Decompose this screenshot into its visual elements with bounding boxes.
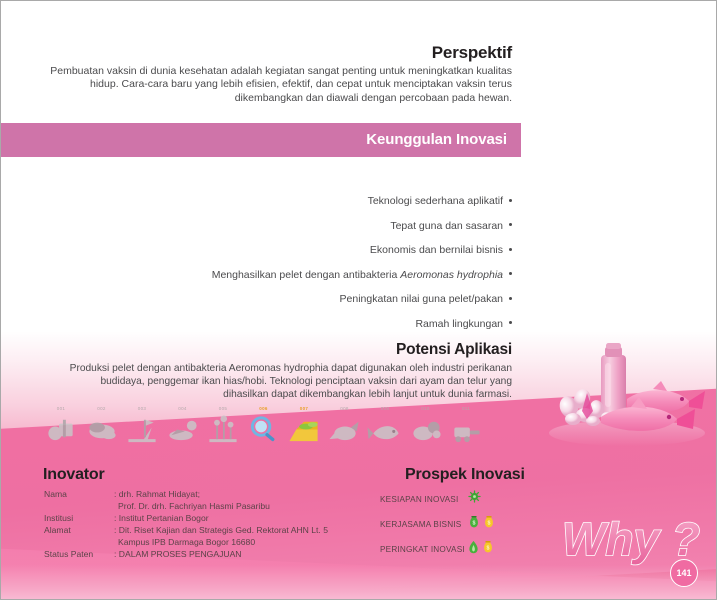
page-canvas: Perspektif Pembuatan vaksin di dunia kes… xyxy=(1,1,716,599)
inovator-row-value-line2: Prof. Dr. drh. Fachriyan Hasmi Pasaribu xyxy=(118,500,374,512)
lab-icon xyxy=(82,412,122,445)
inovator-row-value: : Dit. Riset Kajian dan Strategis Ged. R… xyxy=(114,524,374,536)
energy-icon xyxy=(406,412,446,445)
plantation-icon xyxy=(203,412,243,445)
agriculture-icon xyxy=(122,412,162,445)
sector-icon-001[interactable]: 001 xyxy=(41,405,81,447)
bullet-text: Ramah lingkungan xyxy=(415,318,503,330)
product-photo-bottle-pellets-fish xyxy=(535,327,710,452)
inovator-row: Nama: drh. Rahmat Hidayat; xyxy=(44,488,374,500)
moneybag-yellow-icon: $ xyxy=(482,540,494,554)
bullet-text: Tepat guna dan sasaran xyxy=(390,220,503,232)
sector-icon-number: 005 xyxy=(203,405,243,412)
prospek-rating-label: PERINGKAT INOVASI xyxy=(380,545,465,554)
keunggulan-bullet-item: Menghasilkan pelet dengan antibakteria A… xyxy=(41,268,512,282)
bullet-text: Menghasilkan pelet dengan antibakteria xyxy=(212,269,401,281)
prospek-rating-list: KESIAPAN INOVASIKERJASAMA BISNIS$$PERING… xyxy=(380,492,555,567)
moneybag-yellow-icon: $ xyxy=(483,515,495,529)
livestock-icon xyxy=(163,412,203,445)
machinery-icon xyxy=(446,412,486,445)
marine-icon xyxy=(365,412,405,445)
sector-icon-number: 009 xyxy=(365,405,405,412)
inovator-row-value: : Institut Pertanian Bogor xyxy=(114,512,374,524)
bullet-species-name: Aeromonas hydrophia xyxy=(400,269,503,281)
sector-icon-005[interactable]: 005 xyxy=(203,405,243,447)
sector-icon-004[interactable]: 004 xyxy=(163,405,203,447)
sector-icon-008[interactable]: 008 xyxy=(325,405,365,447)
keunggulan-bullet-item: Peningkatan nilai guna pelet/pakan xyxy=(41,292,512,306)
prospek-rating-icons xyxy=(468,490,484,505)
potensi-heading: Potensi Aplikasi xyxy=(396,341,512,359)
research-icon xyxy=(41,412,81,445)
sector-icon-003[interactable]: 003 xyxy=(122,405,162,447)
svg-text:$: $ xyxy=(486,546,489,552)
bottle-icon xyxy=(601,343,626,417)
sector-icon-number: 004 xyxy=(163,405,203,412)
sector-icon-number: 001 xyxy=(41,405,81,412)
prospek-rating-icons: $ xyxy=(468,540,497,556)
bullet-text: Ekonomis dan bernilai bisnis xyxy=(370,244,503,256)
inovator-row: Status Paten: DALAM PROSES PENGAJUAN xyxy=(44,548,374,560)
sector-icon-number: 011 xyxy=(446,405,486,412)
inovator-row-continued: Prof. Dr. drh. Fachriyan Hasmi Pasaribu xyxy=(44,500,374,512)
inovator-row-label: Alamat xyxy=(44,524,114,536)
sector-icon-number: 007 xyxy=(284,405,324,412)
bullet-dot-icon xyxy=(509,248,512,251)
perspektif-heading: Perspektif xyxy=(432,43,512,63)
inovator-row-value: : DALAM PROSES PENGAJUAN xyxy=(114,548,374,560)
perspektif-body-text: Pembuatan vaksin di dunia kesehatan adal… xyxy=(43,65,512,105)
keunggulan-bullet-item: Ekonomis dan bernilai bisnis xyxy=(41,243,512,257)
bullet-dot-icon xyxy=(509,297,512,300)
inovator-details-table: Nama: drh. Rahmat Hidayat;Prof. Dr. drh.… xyxy=(44,488,374,561)
bullet-dot-icon xyxy=(509,321,512,324)
sector-icon-number: 010 xyxy=(406,405,446,412)
sector-icon-strip: 001002003004005006007008009010011 xyxy=(41,405,487,447)
keunggulan-bullet-list: Teknologi sederhana aplikatifTepat guna … xyxy=(41,194,512,341)
flame-green-icon xyxy=(468,540,479,554)
prospek-rating-icons: $$ xyxy=(468,515,498,531)
svg-text:$: $ xyxy=(472,521,475,527)
sector-icon-002[interactable]: 002 xyxy=(82,405,122,447)
sector-icon-009[interactable]: 009 xyxy=(365,405,405,447)
moneybag-green-icon: $ xyxy=(468,515,480,529)
inovator-row-value-line2: Kampus IPB Darmaga Bogor 16680 xyxy=(118,536,374,548)
sector-icon-011[interactable]: 011 xyxy=(446,405,486,447)
bullet-dot-icon xyxy=(509,199,512,202)
prospek-rating-row: PERINGKAT INOVASI$ xyxy=(380,542,555,567)
prospek-heading: Prospek Inovasi xyxy=(405,466,525,484)
sector-icon-number: 003 xyxy=(122,405,162,412)
prospek-rating-row: KERJASAMA BISNIS$$ xyxy=(380,517,555,542)
inovator-row-continued: Kampus IPB Darmaga Bogor 16680 xyxy=(44,536,374,548)
bullet-text: Teknologi sederhana aplikatif xyxy=(368,195,503,207)
bullet-dot-icon xyxy=(509,223,512,226)
keunggulan-heading: Keunggulan Inovasi xyxy=(366,131,507,148)
page-number-badge: 141 xyxy=(670,559,698,587)
inovator-row: Alamat: Dit. Riset Kajian dan Strategis … xyxy=(44,524,374,536)
sector-icon-006[interactable]: 006 xyxy=(244,405,284,447)
bullet-dot-icon xyxy=(509,272,512,275)
publication-page: Perspektif Pembuatan vaksin di dunia kes… xyxy=(0,0,717,600)
bullet-text: Peningkatan nilai guna pelet/pakan xyxy=(340,293,503,305)
keunggulan-bullet-item: Teknologi sederhana aplikatif xyxy=(41,194,512,208)
prospek-rating-label: KERJASAMA BISNIS xyxy=(380,520,461,529)
prospek-rating-label: KESIAPAN INOVASI xyxy=(380,495,458,504)
sector-icon-number: 006 xyxy=(244,405,284,412)
sector-icon-010[interactable]: 010 xyxy=(406,405,446,447)
inovator-row-label: Institusi xyxy=(44,512,114,524)
inovator-row-label: Status Paten xyxy=(44,548,114,560)
keunggulan-bullet-item: Tepat guna dan sasaran xyxy=(41,219,512,233)
potensi-body-text: Produksi pelet dengan antibakteria Aerom… xyxy=(53,362,512,402)
inovator-heading: Inovator xyxy=(43,466,105,484)
magnifier-icon xyxy=(244,412,284,445)
poultry-icon xyxy=(325,412,365,445)
inovator-row: Institusi: Institut Pertanian Bogor xyxy=(44,512,374,524)
fisheries-icon xyxy=(284,412,324,445)
keunggulan-bullet-item: Ramah lingkungan xyxy=(41,317,512,331)
inovator-row-label: Nama xyxy=(44,488,114,500)
why-logo-text: Why ? xyxy=(562,513,700,565)
keunggulan-banner: Keunggulan Inovasi xyxy=(1,123,521,157)
inovator-row-value: : drh. Rahmat Hidayat; xyxy=(114,488,374,500)
sector-icon-number: 008 xyxy=(325,405,365,412)
svg-text:$: $ xyxy=(487,521,490,527)
prospek-rating-row: KESIAPAN INOVASI xyxy=(380,492,555,517)
gear-green-icon xyxy=(468,490,481,503)
sector-icon-007[interactable]: 007 xyxy=(284,405,324,447)
sector-icon-number: 002 xyxy=(82,405,122,412)
